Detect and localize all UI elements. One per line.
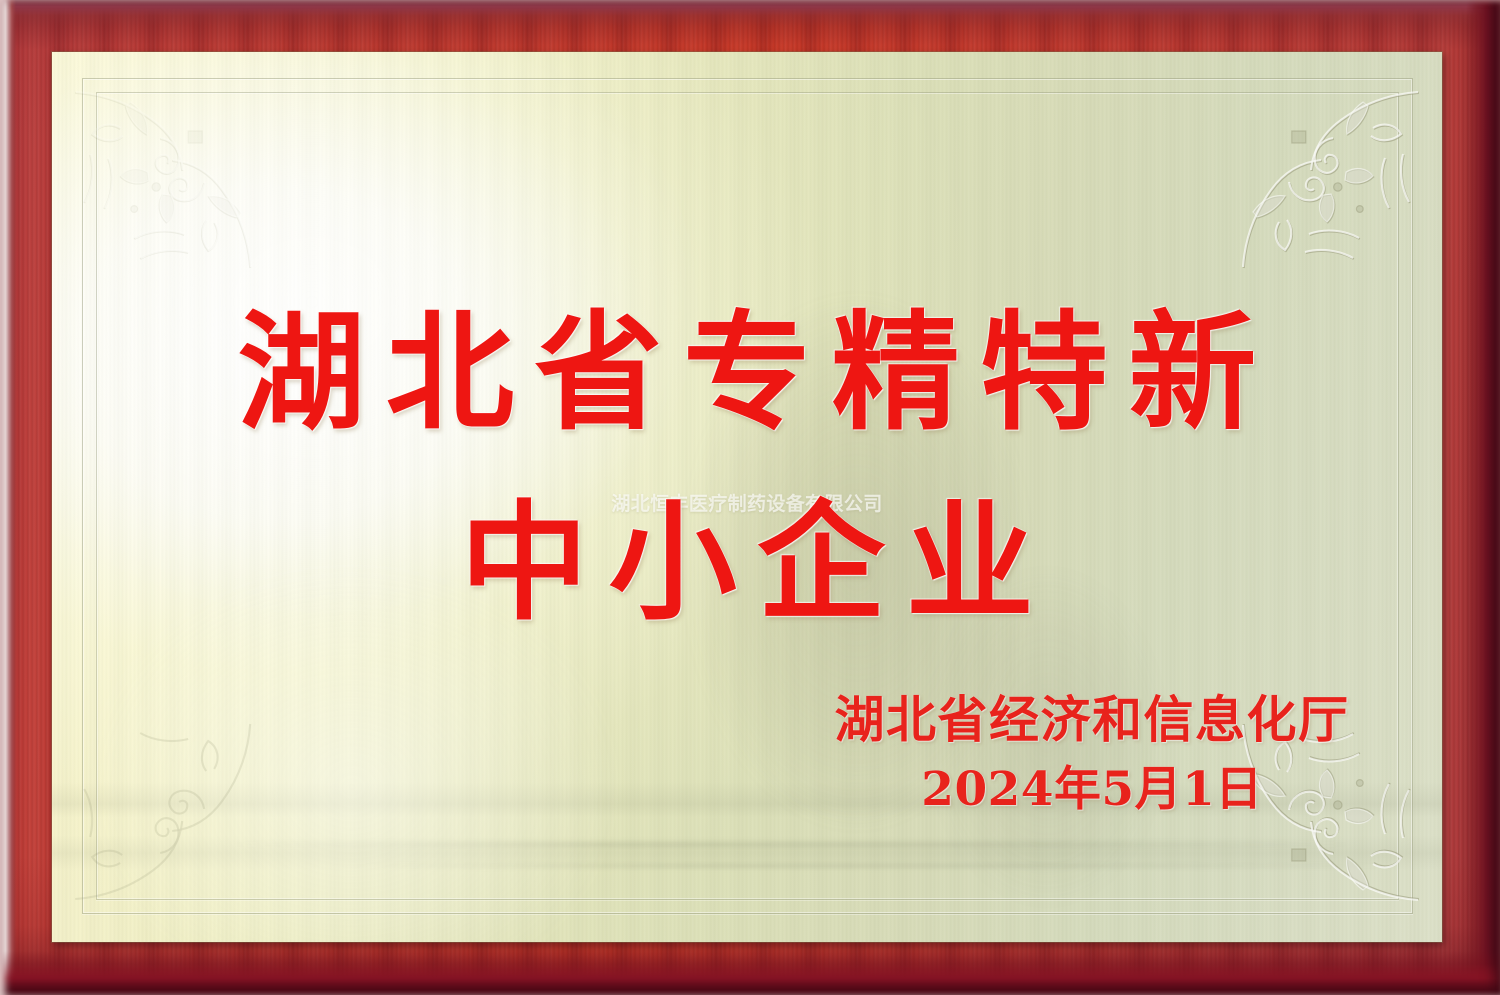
signature-block: 湖北省经济和信息化厅 2024年5月1日 [812, 692, 1372, 816]
plaque-title-line-1: 湖北省专精特新 [52, 310, 1442, 438]
issuing-authority: 湖北省经济和信息化厅 [812, 692, 1372, 748]
plate-content: 湖北省专精特新 湖北恒丰医疗制药设备有限公司 中小企业 湖北省经济和信息化厅 2… [52, 52, 1442, 942]
metal-plate: 湖北省专精特新 湖北恒丰医疗制药设备有限公司 中小企业 湖北省经济和信息化厅 2… [52, 52, 1442, 942]
award-plaque: 湖北省专精特新 湖北恒丰医疗制药设备有限公司 中小企业 湖北省经济和信息化厅 2… [0, 0, 1500, 995]
issue-date: 2024年5月1日 [812, 764, 1372, 816]
plaque-title-line-2: 中小企业 [52, 500, 1442, 628]
